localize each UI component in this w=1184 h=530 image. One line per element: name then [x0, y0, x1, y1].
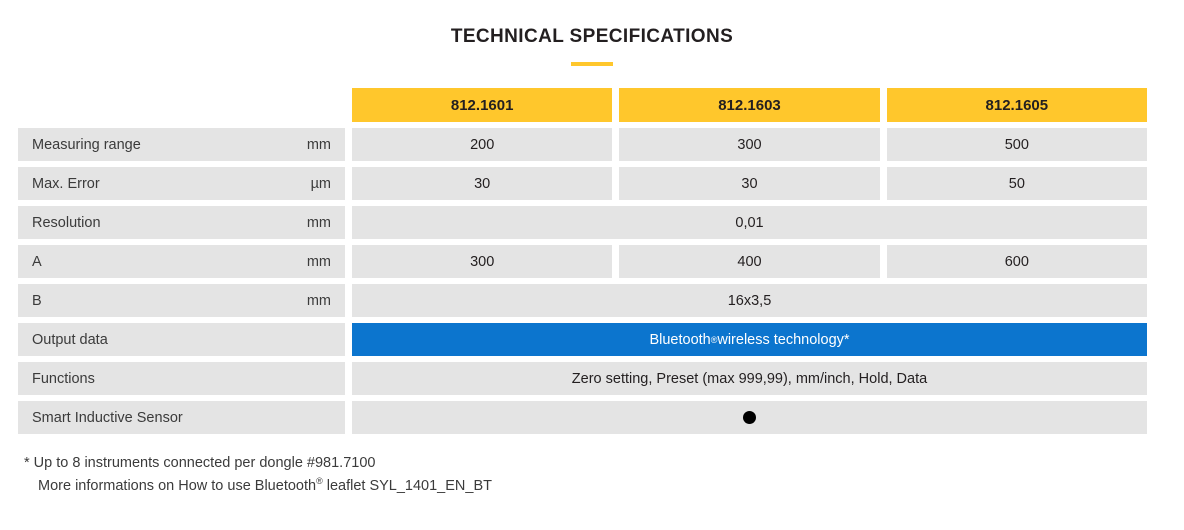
row-label-cell-functions: Functions: [18, 362, 345, 395]
row-label-cell-output-data: Output data: [18, 323, 345, 356]
row-unit: mm: [307, 137, 331, 153]
column-gap: [880, 128, 887, 161]
table-row: Functions Zero setting, Preset (max 999,…: [18, 362, 1147, 395]
column-gap: [345, 284, 352, 317]
row-unit: µm: [311, 176, 331, 192]
cell-a-812-1601: 300: [352, 245, 612, 278]
cell-a-812-1605: 600: [887, 245, 1147, 278]
bluetooth-label-suffix: wireless technology*: [717, 332, 849, 348]
column-gap: [345, 88, 352, 122]
cell-measuring-range-812-1605: 500: [887, 128, 1147, 161]
column-gap: [612, 88, 619, 122]
footnote-line-2-suffix: leaflet SYL_1401_EN_BT: [323, 478, 492, 494]
column-gap: [345, 362, 352, 395]
table-header-row: 812.1601 812.1603 812.1605: [18, 88, 1147, 122]
row-label-cell-a: A mm: [18, 245, 345, 278]
table-row: A mm 300 400 600: [18, 245, 1147, 278]
cell-max-error-812-1603: 30: [619, 167, 879, 200]
row-label: Smart Inductive Sensor: [32, 410, 331, 426]
row-label: Measuring range: [32, 137, 307, 153]
row-label-cell-measuring-range: Measuring range mm: [18, 128, 345, 161]
row-unit: mm: [307, 254, 331, 270]
column-gap: [880, 88, 887, 122]
column-gap: [880, 167, 887, 200]
title-block: TECHNICAL SPECIFICATIONS: [0, 26, 1184, 66]
row-label: A: [32, 254, 307, 270]
row-label: Max. Error: [32, 176, 311, 192]
header-label-spacer: [18, 88, 345, 122]
column-gap: [612, 128, 619, 161]
column-gap: [612, 167, 619, 200]
table-row: Max. Error µm 30 30 50: [18, 167, 1147, 200]
row-label-cell-b: B mm: [18, 284, 345, 317]
footnote-line-2: More informations on How to use Bluetoot…: [24, 475, 492, 498]
cell-smart-inductive-sensor-all-columns: [352, 401, 1147, 434]
table-row: Output data Bluetooth® wireless technolo…: [18, 323, 1147, 356]
table-row: Resolution mm 0,01: [18, 206, 1147, 239]
cell-resolution-all-columns: 0,01: [352, 206, 1147, 239]
footnote-line-1: * Up to 8 instruments connected per dong…: [24, 452, 492, 475]
row-label-cell-resolution: Resolution mm: [18, 206, 345, 239]
cell-b-all-columns: 16x3,5: [352, 284, 1147, 317]
cell-functions-all-columns: Zero setting, Preset (max 999,99), mm/in…: [352, 362, 1147, 395]
cell-measuring-range-812-1603: 300: [619, 128, 879, 161]
row-label: B: [32, 293, 307, 309]
column-gap: [345, 128, 352, 161]
technical-specifications-table: 812.1601 812.1603 812.1605 Measuring ran…: [18, 88, 1147, 440]
row-label: Functions: [32, 371, 331, 387]
cell-max-error-812-1601: 30: [352, 167, 612, 200]
table-row: B mm 16x3,5: [18, 284, 1147, 317]
row-unit: mm: [307, 293, 331, 309]
registered-trademark-icon: ®: [316, 476, 323, 486]
cell-max-error-812-1605: 50: [887, 167, 1147, 200]
footnote-line-2-prefix: More informations on How to use Bluetoot…: [38, 478, 316, 494]
column-header-812-1603: 812.1603: [619, 88, 879, 122]
column-header-812-1601: 812.1601: [352, 88, 612, 122]
column-gap: [345, 323, 352, 356]
column-gap: [612, 245, 619, 278]
footnotes: * Up to 8 instruments connected per dong…: [24, 452, 492, 498]
bluetooth-label-prefix: Bluetooth: [649, 332, 710, 348]
row-label: Resolution: [32, 215, 307, 231]
cell-a-812-1603: 400: [619, 245, 879, 278]
row-label-cell-max-error: Max. Error µm: [18, 167, 345, 200]
cell-measuring-range-812-1601: 200: [352, 128, 612, 161]
column-gap: [345, 245, 352, 278]
page-title: TECHNICAL SPECIFICATIONS: [0, 26, 1184, 48]
cell-output-data-all-columns: Bluetooth® wireless technology*: [352, 323, 1147, 356]
filled-dot-icon: [743, 411, 756, 424]
column-gap: [880, 245, 887, 278]
column-gap: [345, 206, 352, 239]
table-row: Measuring range mm 200 300 500: [18, 128, 1147, 161]
row-unit: mm: [307, 215, 331, 231]
table-row: Smart Inductive Sensor: [18, 401, 1147, 434]
row-label: Output data: [32, 332, 331, 348]
title-accent-rule: [571, 62, 613, 66]
column-gap: [345, 401, 352, 434]
row-label-cell-smart-inductive-sensor: Smart Inductive Sensor: [18, 401, 345, 434]
column-gap: [345, 167, 352, 200]
column-header-812-1605: 812.1605: [887, 88, 1147, 122]
